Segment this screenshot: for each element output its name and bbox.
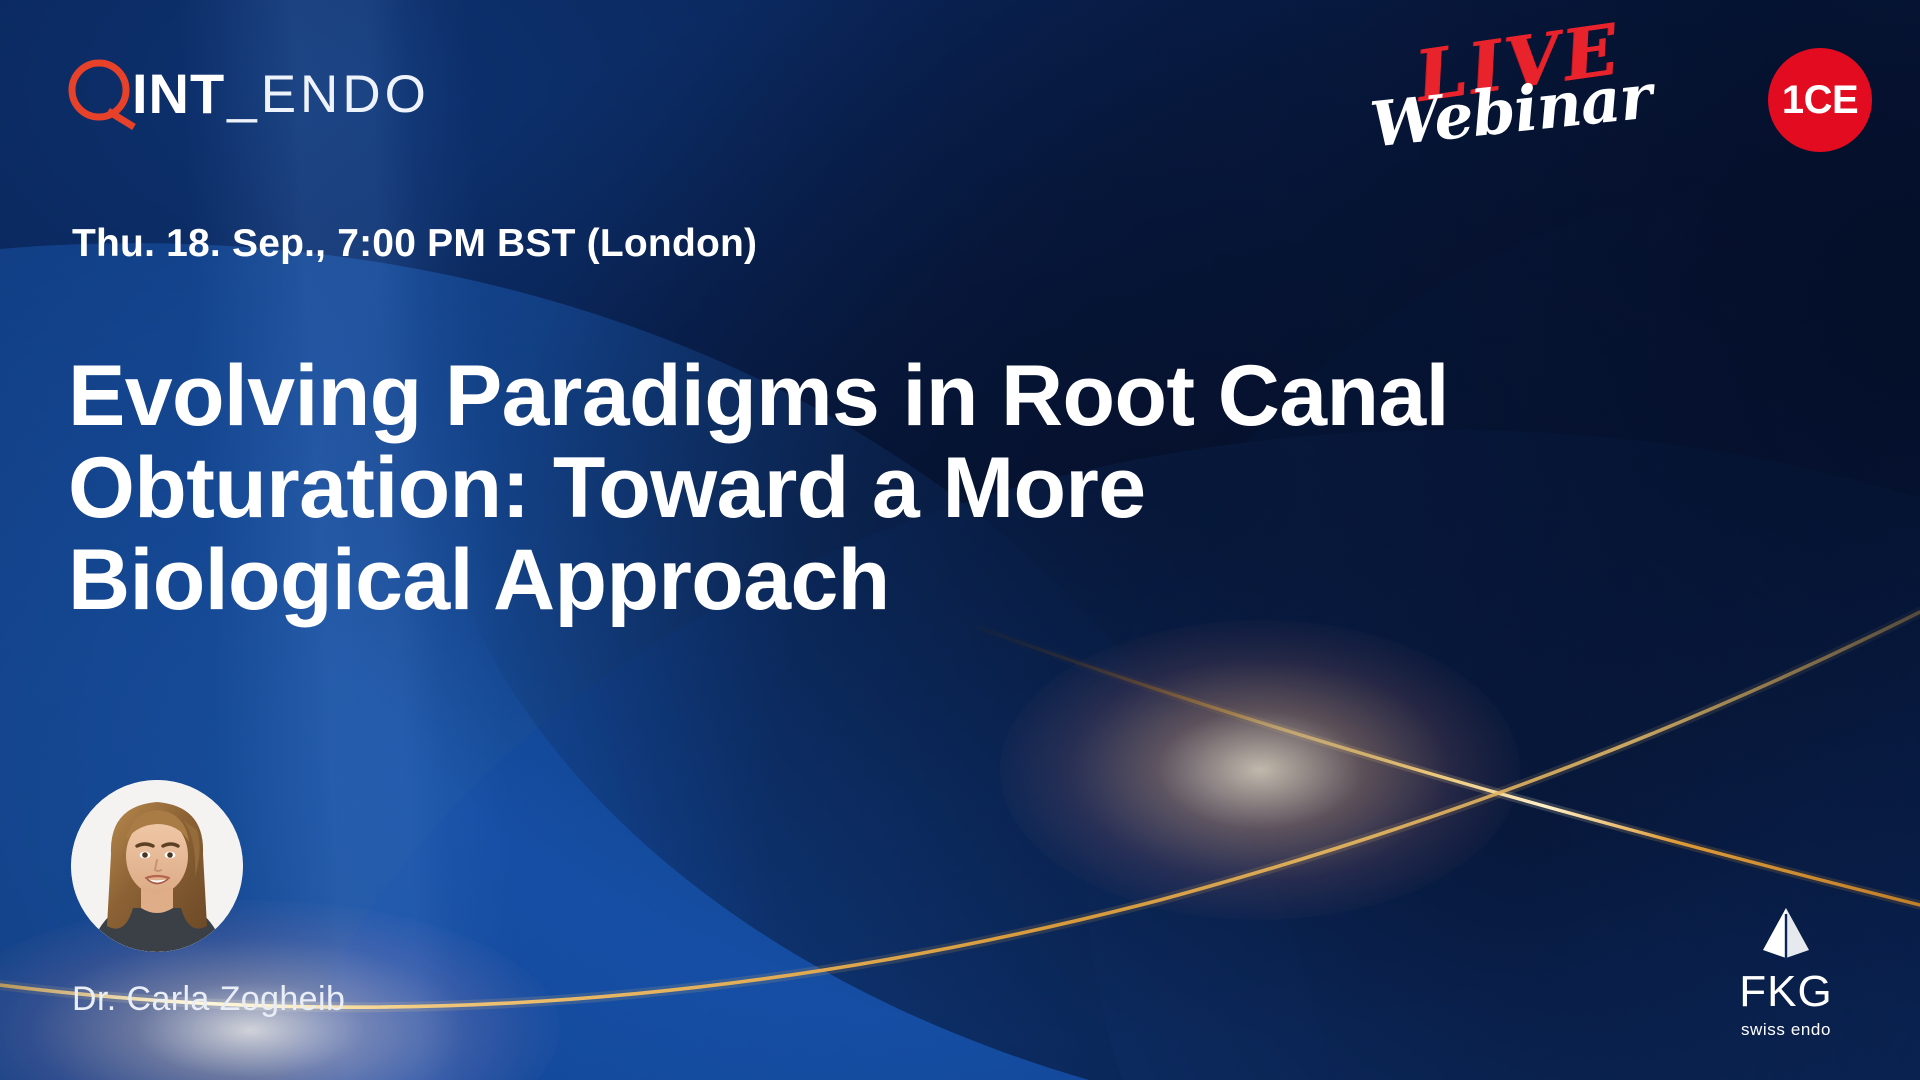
title-line-3: Biological Approach	[68, 534, 1628, 626]
credit-label: 1CE	[1782, 80, 1858, 120]
speaker-avatar	[71, 780, 243, 952]
arrowhead-icon	[1755, 908, 1817, 964]
event-datetime: Thu. 18. Sep., 7:00 PM BST (London)	[72, 222, 757, 266]
fkg-logo[interactable]: FKG swiss endo	[1720, 908, 1852, 1038]
live-webinar-badge: LIVE Webinar	[1370, 26, 1650, 158]
logo-int-text: INT	[132, 66, 225, 122]
credit-badge: 1CE	[1768, 48, 1872, 152]
title-line-2: Obturation: Toward a More	[68, 442, 1628, 534]
q-ring-icon	[64, 56, 138, 132]
portrait-photo-icon	[71, 780, 243, 952]
title-line-1: Evolving Paradigms in Root Canal	[68, 350, 1628, 442]
webinar-label: Webinar	[1368, 65, 1655, 156]
fkg-tagline: swiss endo	[1720, 1021, 1852, 1038]
speaker-name: Dr. Carla Zogheib	[72, 980, 345, 1019]
logo-endo-text: _ENDO	[227, 68, 430, 121]
page-title: Evolving Paradigms in Root Canal Obturat…	[68, 350, 1628, 626]
fkg-name-text: FKG	[1720, 970, 1852, 1014]
qint-endo-logo[interactable]: INT _ENDO	[64, 58, 430, 130]
webinar-banner: INT _ENDO LIVE Webinar 1CE Thu. 18. Sep.…	[0, 0, 1920, 1080]
